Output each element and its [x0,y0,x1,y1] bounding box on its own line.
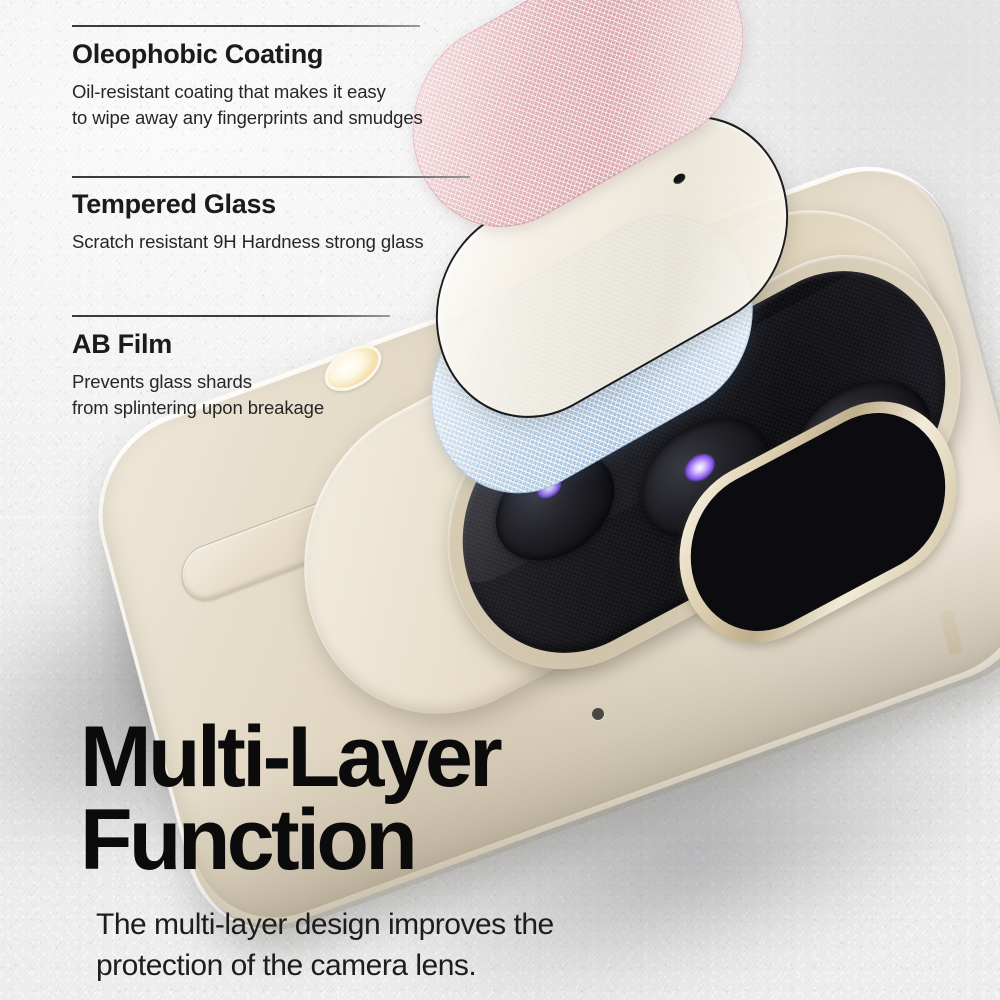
callout-description-oleophobic-coating: Oil-resistant coating that makes it easy… [72,79,423,132]
product-feature-graphic: Oleophobic Coating Oil-resistant coating… [0,0,1000,1000]
callout-title-tempered-glass: Tempered Glass [72,190,424,220]
callout-oleophobic-coating: Oleophobic Coating Oil-resistant coating… [72,40,423,131]
page-subheadline: The multi-layer design improves the prot… [96,904,756,987]
page-headline: Multi-Layer Function [80,716,499,883]
tempered-glass-mic-cutout [672,172,687,187]
callout-tempered-glass: Tempered Glass Scratch resistant 9H Hard… [72,190,424,255]
camera-micro-hole [737,512,745,521]
callout-rule-tempered-glass [72,176,470,178]
callout-title-ab-film: AB Film [72,330,324,360]
callout-title-oleophobic-coating: Oleophobic Coating [72,40,423,70]
callout-description-ab-film: Prevents glass shards from splintering u… [72,369,324,422]
callout-description-tempered-glass: Scratch resistant 9H Hardness strong gla… [72,229,424,255]
callout-rule-ab-film [72,315,390,317]
callout-ab-film: AB Film Prevents glass shards from splin… [72,330,324,421]
callout-rule-oleophobic-coating [72,25,420,27]
